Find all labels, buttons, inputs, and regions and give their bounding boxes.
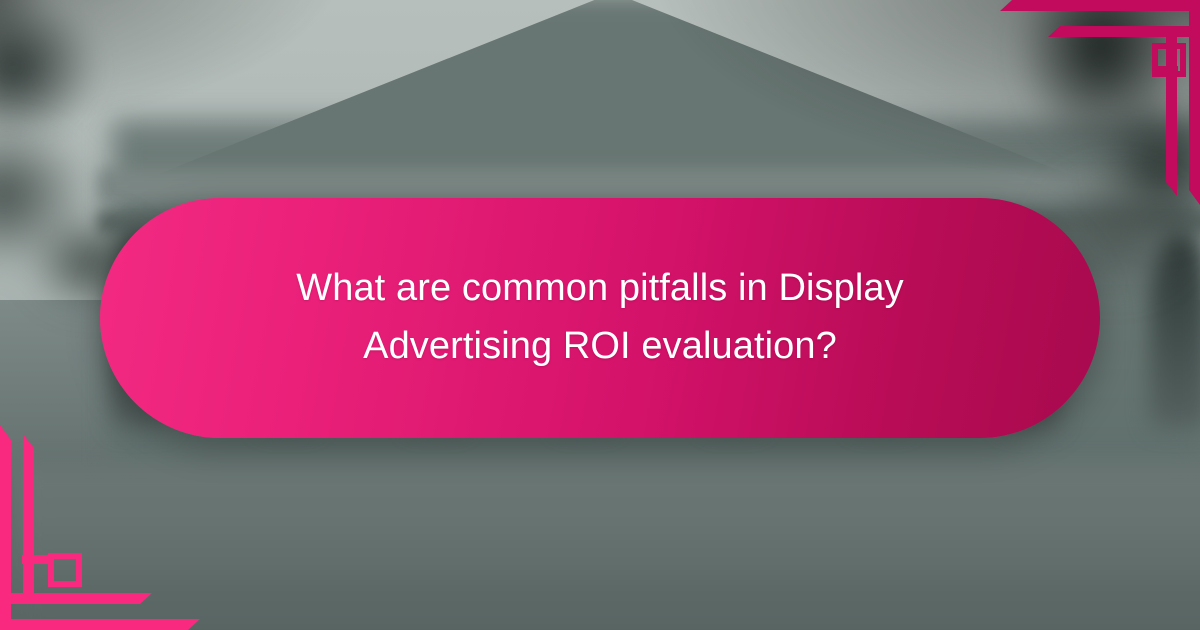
- social-card: What are common pitfalls in Display Adve…: [0, 0, 1200, 630]
- headline-pill: What are common pitfalls in Display Adve…: [100, 198, 1100, 438]
- page-title: What are common pitfalls in Display Adve…: [270, 260, 930, 376]
